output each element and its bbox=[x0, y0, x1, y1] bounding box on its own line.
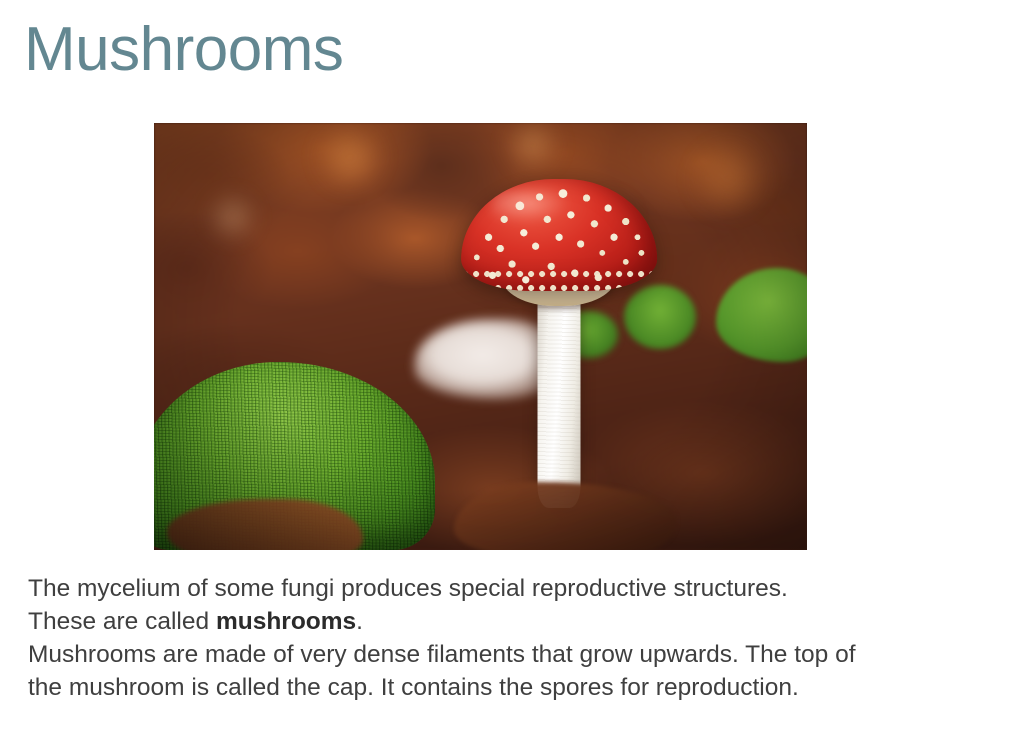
body-text: The mycelium of some fungi produces spec… bbox=[28, 572, 1008, 704]
mushroom-photo bbox=[154, 123, 807, 550]
body-line-2: These are called mushrooms. bbox=[28, 605, 1008, 638]
body-line-1: The mycelium of some fungi produces spec… bbox=[28, 572, 1008, 605]
page-title: Mushrooms bbox=[24, 16, 343, 84]
body-line-3: Mushrooms are made of very dense filamen… bbox=[28, 638, 1008, 671]
body-line-4: the mushroom is called the cap. It conta… bbox=[28, 671, 1008, 704]
body-term-mushrooms: mushrooms bbox=[216, 608, 356, 635]
photo-vignette bbox=[154, 123, 807, 550]
body-line-2-suffix: . bbox=[356, 608, 363, 635]
body-line-2-prefix: These are called bbox=[28, 608, 216, 635]
